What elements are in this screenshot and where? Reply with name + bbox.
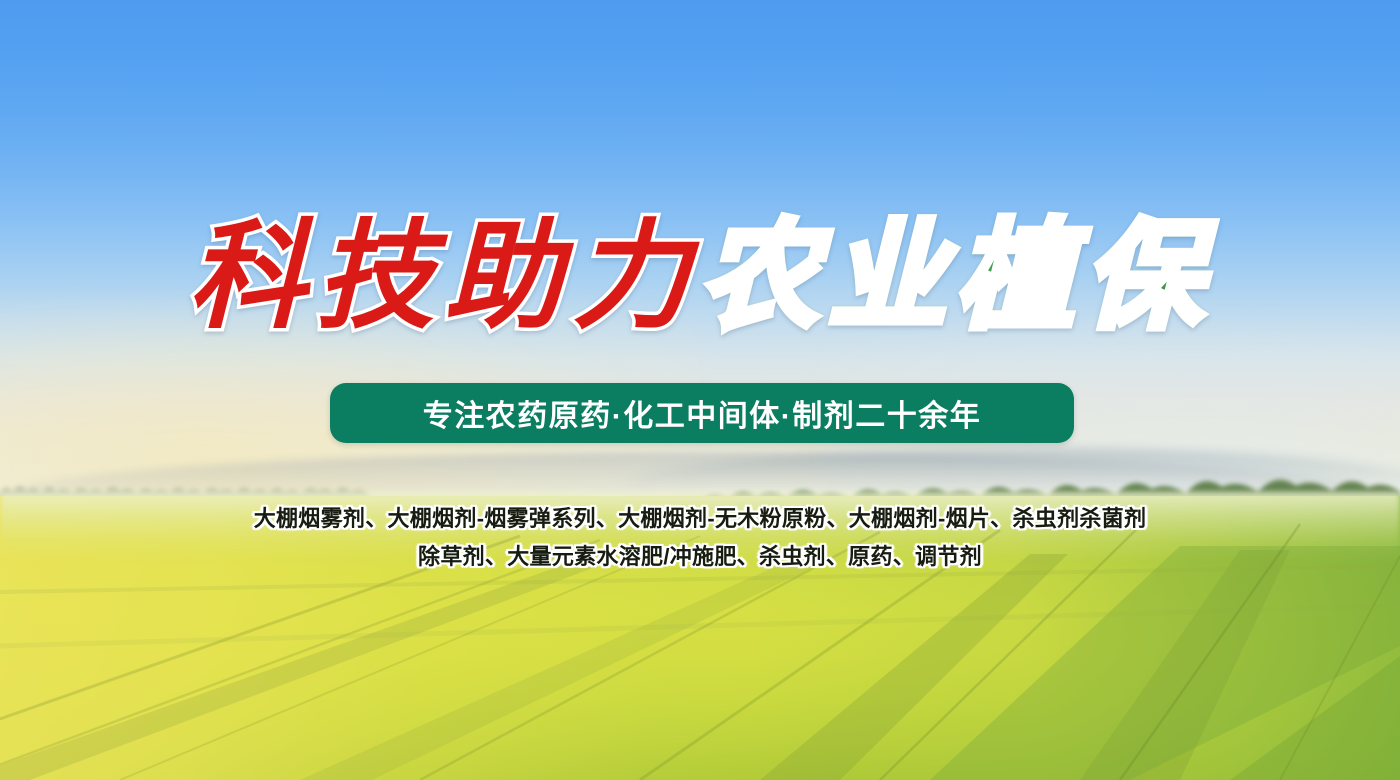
subtitle-pill: 专注农药原药·化工中间体·制剂二十余年 [330,383,1074,443]
page-title: 科技助力农业植保 [0,206,1400,345]
headline-segment-red: 科技助力 [188,206,700,345]
product-line-2: 除草剂、大量元素水溶肥/冲施肥、杀虫剂、原药、调节剂 [0,538,1400,576]
hero-banner: 科技助力农业植保 专注农药原药·化工中间体·制剂二十余年 大棚烟雾剂、大棚烟剂-… [0,0,1400,780]
product-line-1: 大棚烟雾剂、大棚烟剂-烟雾弹系列、大棚烟剂-无木粉原粉、大棚烟剂-烟片、杀虫剂杀… [0,500,1400,538]
product-list: 大棚烟雾剂、大棚烟剂-烟雾弹系列、大棚烟剂-无木粉原粉、大棚烟剂-烟片、杀虫剂杀… [0,500,1400,576]
headline-segment-green: 农业植保 [700,206,1212,345]
subtitle-text: 专注农药原药·化工中间体·制剂二十余年 [423,391,981,435]
